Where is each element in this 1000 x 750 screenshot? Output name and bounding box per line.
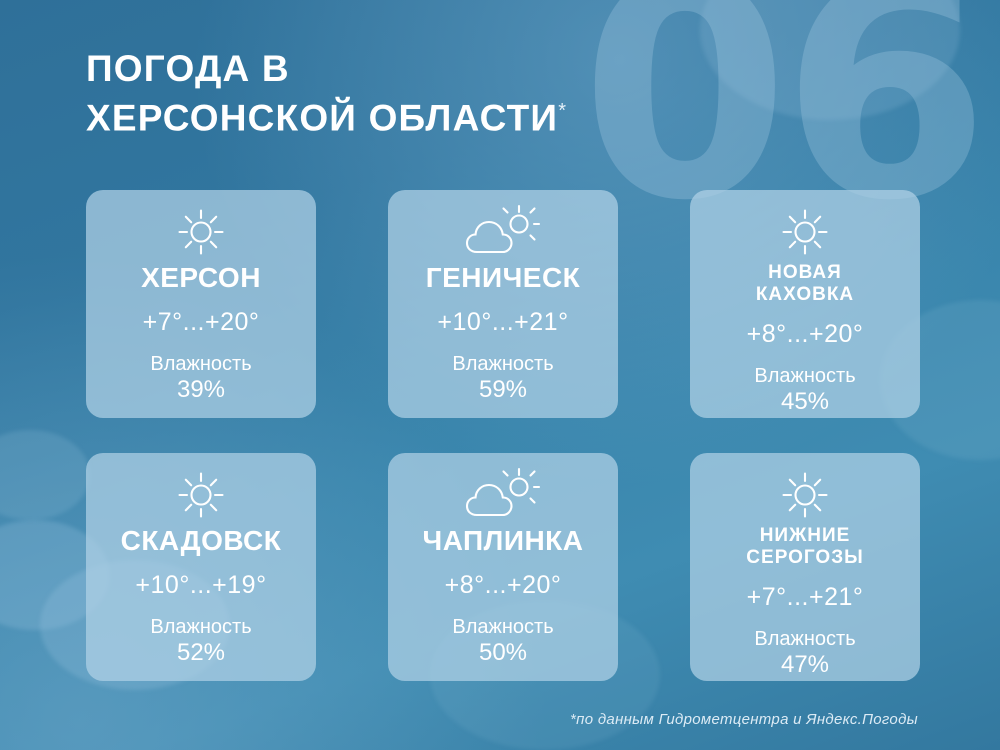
city-name-line: ХЕРСОН [141,262,261,294]
city-name-line: НИЖНИЕ [746,525,863,547]
city-name: ХЕРСОН [141,262,261,294]
sun-icon [778,469,832,521]
city-name-line: ЧАПЛИНКА [423,525,584,557]
temperature-range: +10°...+21° [437,308,568,337]
source-footnote: *по данным Гидрометцентра и Яндекс.Погод… [570,711,918,728]
sun-icon [174,206,228,258]
humidity-value: 45% [754,389,855,415]
city-name-line: НОВАЯ [756,262,854,284]
temperature-range: +10°...+19° [135,571,266,600]
humidity-value: 39% [150,377,251,403]
weather-card: СКАДОВСК+10°...+19°Влажность52% [86,453,316,681]
city-name-line: СКАДОВСК [121,525,282,557]
humidity-value: 47% [754,652,855,678]
weather-card: ГЕНИЧЕСК+10°...+21°Влажность59% [388,190,618,418]
humidity-label: Влажность [754,365,855,387]
humidity-block: Влажность59% [452,351,553,403]
cloud-sun-icon [465,469,541,521]
title-asterisk: * [558,100,567,122]
city-name: ГЕНИЧЕСК [426,262,581,294]
humidity-label: Влажность [754,628,855,650]
humidity-block: Влажность50% [452,614,553,666]
city-name: НОВАЯКАХОВКА [756,262,854,306]
temperature-range: +8°...+20° [445,571,562,600]
background-cloud [700,0,960,120]
humidity-label: Влажность [452,616,553,638]
cloud-sun-icon [465,206,541,258]
temperature-range: +7°...+20° [143,308,260,337]
sun-icon [778,206,832,258]
title-line-1: ПОГОДА В [86,48,567,90]
weather-card: ХЕРСОН+7°...+20°Влажность39% [86,190,316,418]
sun-icon [174,469,228,521]
humidity-block: Влажность45% [754,363,855,415]
humidity-block: Влажность52% [150,614,251,666]
city-name-line: КАХОВКА [756,284,854,306]
humidity-value: 59% [452,377,553,403]
humidity-block: Влажность39% [150,351,251,403]
city-name: ЧАПЛИНКА [423,525,584,557]
humidity-block: Влажность47% [754,626,855,678]
title-line-2-text: ХЕРСОНСКОЙ ОБЛАСТИ [86,97,558,138]
weather-poster: 06 ПОГОДА В ХЕРСОНСКОЙ ОБЛАСТИ* ХЕРСОН+7… [0,0,1000,750]
page-title: ПОГОДА В ХЕРСОНСКОЙ ОБЛАСТИ* [86,48,567,139]
humidity-label: Влажность [452,353,553,375]
weather-card-grid: ХЕРСОН+7°...+20°Влажность39%ГЕНИЧЕСК+10°… [86,190,922,681]
weather-card: НИЖНИЕСЕРОГОЗЫ+7°...+21°Влажность47% [690,453,920,681]
background-cloud [0,430,90,520]
humidity-value: 52% [150,640,251,666]
city-name-line: ГЕНИЧЕСК [426,262,581,294]
humidity-label: Влажность [150,616,251,638]
city-name: СКАДОВСК [121,525,282,557]
temperature-range: +8°...+20° [747,320,864,349]
city-name-line: СЕРОГОЗЫ [746,547,863,569]
weather-card: ЧАПЛИНКА+8°...+20°Влажность50% [388,453,618,681]
humidity-value: 50% [452,640,553,666]
title-line-2: ХЕРСОНСКОЙ ОБЛАСТИ* [86,90,567,139]
humidity-label: Влажность [150,353,251,375]
temperature-range: +7°...+21° [747,583,864,612]
weather-card: НОВАЯКАХОВКА+8°...+20°Влажность45% [690,190,920,418]
city-name: НИЖНИЕСЕРОГОЗЫ [746,525,863,569]
